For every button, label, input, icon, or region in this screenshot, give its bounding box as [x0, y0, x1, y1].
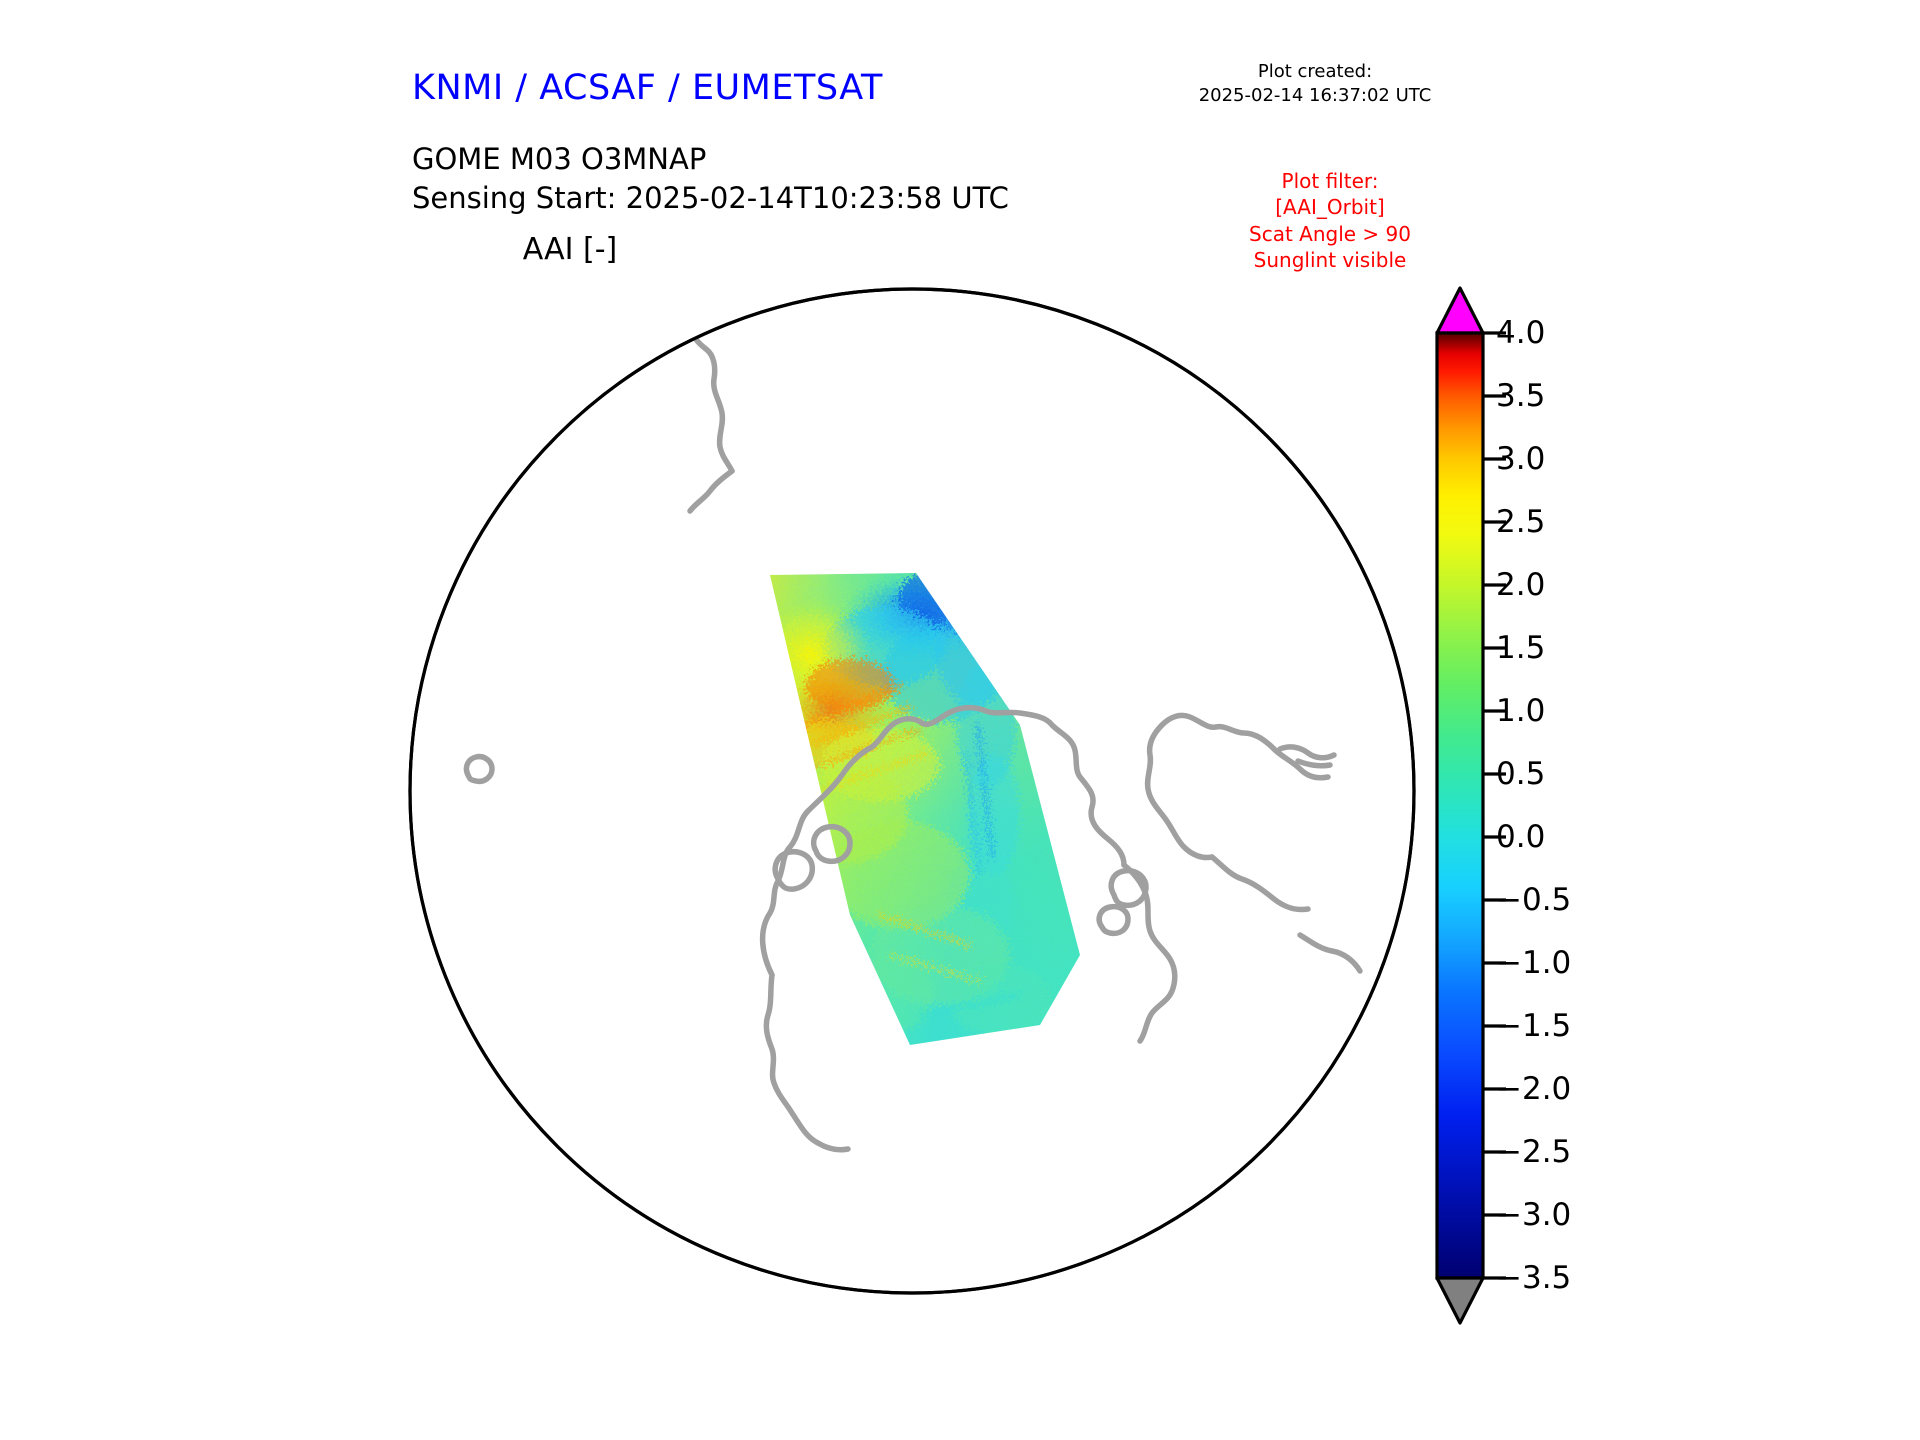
colorbar-tick-label: −2.5 [1496, 1134, 1571, 1170]
colorbar-svg [1420, 270, 1880, 1330]
map-svg [380, 255, 1450, 1335]
colorbar-tick-label: 2.5 [1496, 504, 1545, 540]
colorbar-over-arrow [1437, 288, 1483, 333]
colorbar-tick-label: −1.5 [1496, 1008, 1571, 1044]
plot-created-label: Plot created: [1155, 60, 1475, 84]
colorbar-tick-label: 2.0 [1496, 567, 1545, 603]
plot-filter-line-2: [AAI_Orbit] [1165, 194, 1495, 220]
instrument-line: GOME M03 O3MNAP [412, 140, 1009, 179]
colorbar-tick-label: 1.5 [1496, 630, 1545, 666]
organisation-header: KNMI / ACSAF / EUMETSAT [412, 68, 883, 108]
colorbar-tick-label: −0.5 [1496, 882, 1571, 918]
colorbar-tick-label: 3.5 [1496, 378, 1545, 414]
colorbar-tick-label: −3.0 [1496, 1197, 1571, 1233]
colorbar-tick-label: 0.5 [1496, 756, 1545, 792]
plot-created-timestamp: 2025-02-14 16:37:02 UTC [1155, 84, 1475, 108]
sensing-start-line: Sensing Start: 2025-02-14T10:23:58 UTC [412, 179, 1009, 218]
polar-map [380, 255, 1450, 1335]
colorbar-tick-label: 4.0 [1496, 315, 1545, 351]
colorbar-tick-label: 1.0 [1496, 693, 1545, 729]
colorbar-under-arrow [1437, 1278, 1483, 1323]
colorbar-tick-label: −3.5 [1496, 1260, 1571, 1296]
plot-filter-line-3: Scat Angle > 90 [1165, 221, 1495, 247]
product-title-block: GOME M03 O3MNAP Sensing Start: 2025-02-1… [412, 140, 1009, 218]
colorbar: 4.0 3.5 3.0 2.5 2.0 1.5 1.0 0.5 0.0 −0.5… [1420, 270, 1880, 1330]
colorbar-tick-label: −1.0 [1496, 945, 1571, 981]
plot-filter-line-1: Plot filter: [1165, 168, 1495, 194]
colorbar-tick-label: 0.0 [1496, 819, 1545, 855]
colorbar-tick-label: −2.0 [1496, 1071, 1571, 1107]
colorbar-tick-label: 3.0 [1496, 441, 1545, 477]
plot-created-block: Plot created: 2025-02-14 16:37:02 UTC [1155, 60, 1475, 109]
colorbar-gradient [1437, 333, 1483, 1278]
